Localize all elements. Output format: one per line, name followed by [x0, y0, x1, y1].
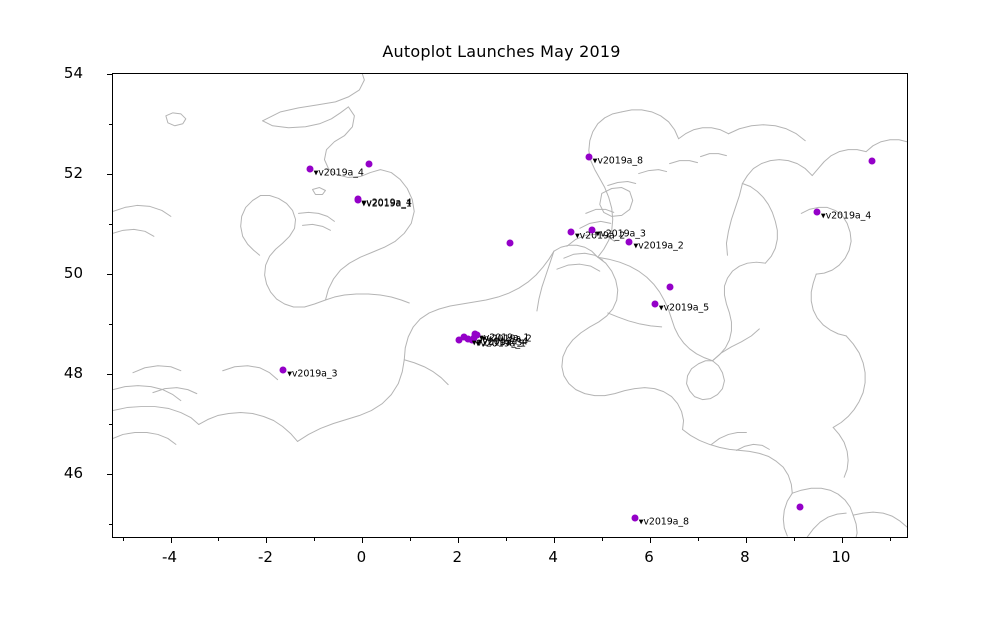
x-tick-label: 6: [644, 548, 654, 566]
data-point-label: ▾v2019a_3: [472, 338, 522, 349]
x-axis-tick: [218, 537, 219, 541]
x-tick-label: 0: [357, 548, 367, 566]
data-point-label: ▾v2019a_8: [639, 517, 689, 528]
x-axis-tick: [410, 537, 411, 541]
data-point-marker: [365, 161, 372, 168]
scatter-plot-axes: ▾v2019a_4▾v2019a_4▾v2019a_1▾v2019a_3▾v20…: [112, 73, 908, 538]
y-tick-label: 54: [64, 64, 83, 82]
scatter-data-layer: ▾v2019a_4▾v2019a_4▾v2019a_1▾v2019a_3▾v20…: [113, 74, 907, 537]
x-tick-label: 2: [452, 548, 462, 566]
data-point-marker: [651, 301, 658, 308]
data-point-marker: [626, 238, 633, 245]
page-title: Autoplot Launches May 2019: [0, 42, 1003, 61]
y-axis-tick: [107, 74, 113, 75]
data-point-marker: [280, 367, 287, 374]
x-axis-tick: [123, 537, 124, 541]
y-axis-tick: [109, 224, 113, 225]
x-tick-label: 8: [740, 548, 750, 566]
x-axis-tick: [650, 537, 651, 543]
data-point-label: ▾v2019a_4: [314, 168, 364, 179]
x-axis-tick: [602, 537, 603, 541]
data-point-marker: [868, 157, 875, 164]
x-axis-tick: [554, 537, 555, 543]
x-tick-label: -4: [162, 548, 177, 566]
x-tick-label: 10: [831, 548, 850, 566]
x-axis-tick: [746, 537, 747, 543]
matplotlib-figure: Autoplot Launches May 2019: [0, 0, 1003, 633]
y-axis-tick: [109, 124, 113, 125]
x-axis-tick: [266, 537, 267, 543]
data-point-marker: [631, 515, 638, 522]
x-axis-tick: [362, 537, 363, 543]
y-axis-tick: [109, 324, 113, 325]
x-axis-tick: [506, 537, 507, 541]
data-point-marker: [506, 239, 513, 246]
y-axis-tick: [109, 524, 113, 525]
x-axis-tick: [171, 537, 172, 543]
data-point-marker: [796, 503, 803, 510]
x-axis-tick: [794, 537, 795, 541]
y-axis-tick: [109, 424, 113, 425]
x-axis-tick: [314, 537, 315, 541]
data-point-label: ▾v2019a_5: [659, 303, 709, 314]
y-axis-tick: [107, 274, 113, 275]
data-point-label: ▾v2019a_1: [362, 199, 412, 210]
x-tick-label: -2: [258, 548, 273, 566]
y-tick-label: 48: [64, 364, 83, 382]
x-axis-tick: [458, 537, 459, 543]
data-point-marker: [585, 153, 592, 160]
data-point-label: ▾v2019a_3: [596, 229, 646, 240]
data-point-marker: [567, 228, 574, 235]
y-tick-label: 50: [64, 264, 83, 282]
data-point-marker: [588, 227, 595, 234]
x-axis-tick: [698, 537, 699, 541]
x-tick-label: 4: [548, 548, 558, 566]
data-point-marker: [354, 197, 361, 204]
x-axis-tick: [890, 537, 891, 541]
y-axis-tick: [107, 174, 113, 175]
data-point-label: ▾v2019a_4: [821, 210, 871, 221]
data-point-marker: [813, 208, 820, 215]
data-point-marker: [667, 283, 674, 290]
y-tick-label: 46: [64, 464, 83, 482]
data-point-marker: [306, 166, 313, 173]
data-point-marker: [461, 334, 468, 341]
y-axis-tick: [107, 474, 113, 475]
data-point-label: ▾v2019a_2: [633, 240, 683, 251]
x-axis-tick: [842, 537, 843, 543]
data-point-label: ▾v2019a_3: [287, 369, 337, 380]
data-point-label: ▾v2019a_8: [593, 155, 643, 166]
y-tick-label: 52: [64, 164, 83, 182]
y-axis-tick: [107, 374, 113, 375]
